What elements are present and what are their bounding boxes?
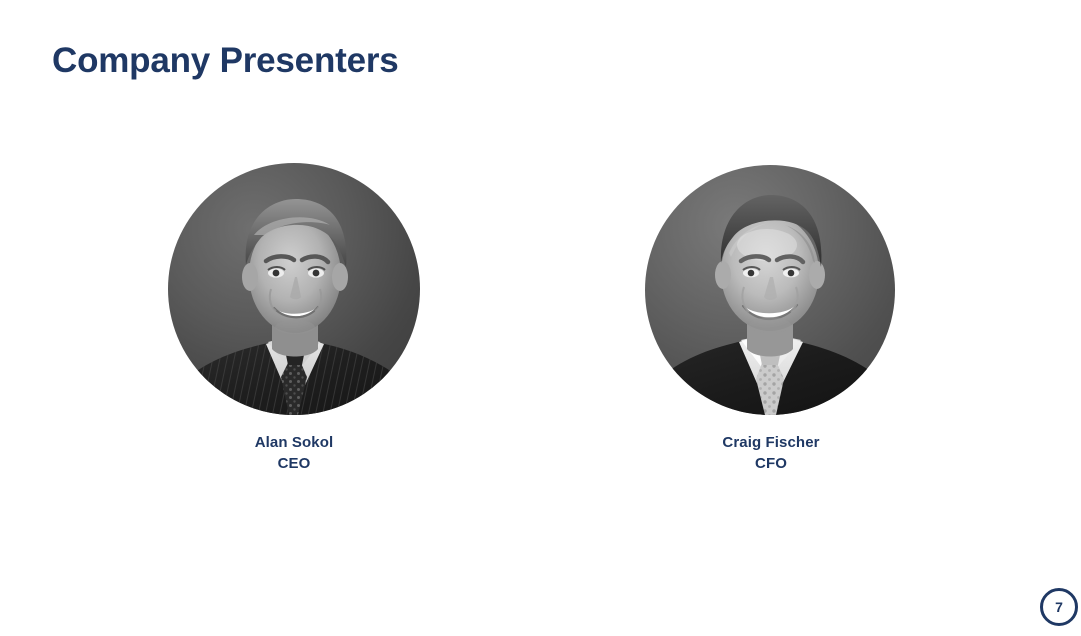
page-number: 7 <box>1055 600 1063 614</box>
portrait-alan-sokol <box>168 163 420 415</box>
slide-company-presenters: Company Presenters <box>0 0 1081 636</box>
page-number-badge: 7 <box>1040 588 1078 626</box>
page-title: Company Presenters <box>52 42 399 81</box>
presenter-card: Craig Fischer CFO <box>645 165 897 474</box>
presenter-name: Craig Fischer <box>645 432 897 453</box>
presenter-name: Alan Sokol <box>168 432 420 453</box>
presenter-card: Alan Sokol CEO <box>168 163 420 474</box>
portrait-craig-fischer <box>645 165 895 415</box>
presenter-role: CFO <box>645 453 897 474</box>
presenter-role: CEO <box>168 453 420 474</box>
